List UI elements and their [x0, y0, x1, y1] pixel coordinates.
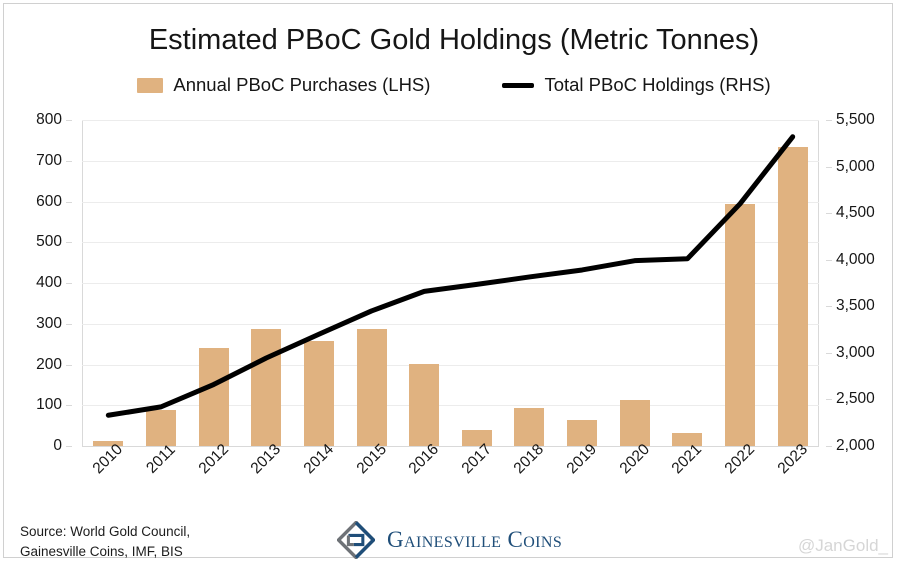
- x-tick-label-2020: 2020: [616, 441, 653, 478]
- x-tick-label-2019: 2019: [564, 441, 601, 478]
- y-tick-mark-left: [66, 120, 72, 121]
- x-tick-slot: 2020: [608, 447, 661, 502]
- legend-bar-label: Annual PBoC Purchases (LHS): [173, 74, 430, 96]
- y-tick-left: 0: [53, 437, 62, 455]
- y-tick-right: 4,000: [836, 251, 875, 269]
- brand-name: Gainesville Coins: [387, 527, 562, 553]
- y-tick-left: 700: [36, 152, 62, 170]
- x-axis: 2010201120122013201420152016201720182019…: [82, 447, 819, 502]
- y-tick-right: 3,000: [836, 344, 875, 362]
- y-tick-right: 2,000: [836, 437, 875, 455]
- y-tick-mark-left: [66, 446, 72, 447]
- x-tick-label-2012: 2012: [195, 441, 232, 478]
- chart-frame: Estimated PBoC Gold Holdings (Metric Ton…: [3, 3, 893, 558]
- x-tick-label-2017: 2017: [458, 441, 495, 478]
- y-tick-right: 3,500: [836, 297, 875, 315]
- y-tick-mark-right: [826, 353, 832, 354]
- x-tick-label-2022: 2022: [722, 441, 759, 478]
- x-tick-slot: 2012: [187, 447, 240, 502]
- y-axis-right: 2,0002,5003,0003,5004,0004,5005,0005,500: [826, 120, 896, 446]
- y-tick-left: 800: [36, 111, 62, 129]
- legend-item-line: Total PBoC Holdings (RHS): [502, 74, 770, 96]
- x-tick-slot: 2018: [503, 447, 556, 502]
- legend-item-bars: Annual PBoC Purchases (LHS): [137, 74, 430, 96]
- y-tick-right: 5,500: [836, 111, 875, 129]
- gainesville-coins-logo-icon: [337, 521, 375, 559]
- x-tick-slot: 2013: [240, 447, 293, 502]
- source-note: Source: World Gold Council, Gainesville …: [20, 522, 190, 561]
- y-tick-mark-right: [826, 260, 832, 261]
- y-tick-mark-right: [826, 399, 832, 400]
- chart-title: Estimated PBoC Gold Holdings (Metric Ton…: [4, 24, 900, 57]
- x-tick-label-2010: 2010: [90, 441, 127, 478]
- y-tick-mark-left: [66, 405, 72, 406]
- y-tick-left: 300: [36, 315, 62, 333]
- x-tick-slot: 2017: [450, 447, 503, 502]
- y-tick-mark-left: [66, 202, 72, 203]
- x-tick-label-2021: 2021: [669, 441, 706, 478]
- x-tick-slot: 2021: [661, 447, 714, 502]
- y-axis-left: 0100200300400500600700800: [4, 120, 72, 446]
- y-tick-mark-right: [826, 306, 832, 307]
- y-tick-left: 400: [36, 274, 62, 292]
- x-tick-label-2013: 2013: [248, 441, 285, 478]
- x-tick-slot: 2023: [766, 447, 819, 502]
- y-tick-mark-left: [66, 365, 72, 366]
- legend-line-label: Total PBoC Holdings (RHS): [544, 74, 770, 96]
- source-line-1: Source: World Gold Council,: [20, 522, 190, 542]
- plot-area: [82, 120, 819, 446]
- legend-line-swatch-icon: [502, 83, 534, 88]
- x-tick-slot: 2016: [398, 447, 451, 502]
- source-line-2: Gainesville Coins, IMF, BIS: [20, 542, 190, 562]
- y-tick-mark-left: [66, 324, 72, 325]
- y-tick-left: 500: [36, 233, 62, 251]
- y-tick-right: 5,000: [836, 158, 875, 176]
- y-tick-right: 2,500: [836, 390, 875, 408]
- x-tick-slot: 2015: [345, 447, 398, 502]
- x-tick-slot: 2010: [82, 447, 135, 502]
- y-tick-right: 4,500: [836, 204, 875, 222]
- x-tick-label-2011: 2011: [143, 441, 179, 477]
- chart-legend: Annual PBoC Purchases (LHS) Total PBoC H…: [4, 74, 900, 96]
- y-tick-mark-right: [826, 167, 832, 168]
- y-tick-left: 600: [36, 193, 62, 211]
- x-tick-slot: 2014: [293, 447, 346, 502]
- x-tick-slot: 2022: [714, 447, 767, 502]
- y-tick-mark-left: [66, 283, 72, 284]
- x-tick-slot: 2019: [556, 447, 609, 502]
- y-tick-left: 100: [36, 396, 62, 414]
- line-series: [82, 120, 819, 446]
- y-tick-mark-right: [826, 120, 832, 121]
- x-tick-label-2023: 2023: [774, 441, 811, 478]
- x-tick-label-2018: 2018: [511, 441, 548, 478]
- legend-bar-swatch-icon: [137, 78, 163, 93]
- brand-logo: Gainesville Coins: [337, 521, 562, 559]
- y-tick-mark-right: [826, 213, 832, 214]
- chart-footer: Source: World Gold Council, Gainesville …: [4, 509, 900, 569]
- line-path: [108, 137, 792, 415]
- x-tick-label-2014: 2014: [300, 441, 337, 478]
- y-tick-mark-left: [66, 242, 72, 243]
- y-tick-mark-right: [826, 446, 832, 447]
- y-tick-mark-left: [66, 161, 72, 162]
- y-tick-left: 200: [36, 356, 62, 374]
- x-tick-label-2016: 2016: [406, 441, 443, 478]
- x-tick-slot: 2011: [135, 447, 188, 502]
- x-tick-label-2015: 2015: [353, 441, 390, 478]
- watermark: @JanGold_: [798, 536, 888, 556]
